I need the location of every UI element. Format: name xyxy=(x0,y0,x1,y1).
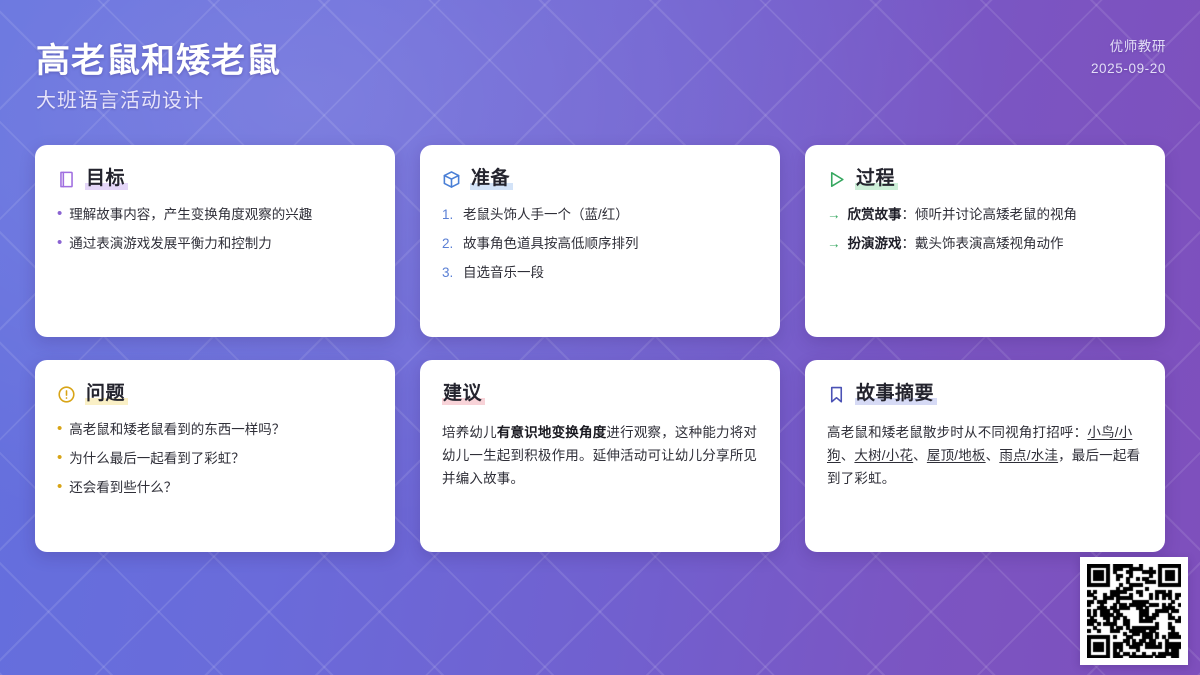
card-process-title: 过程 xyxy=(855,167,898,192)
list-item: 3. 自选音乐一段 xyxy=(442,264,758,281)
list-item-text: 老鼠头饰人手一个（蓝/红） xyxy=(463,206,629,223)
advice-text-bold: 有意识地变换角度 xyxy=(497,425,607,440)
list-item-body: 扮演游戏：戴头饰表演高矮视角动作 xyxy=(848,235,1064,252)
box-icon xyxy=(442,170,461,189)
bullet-dot-icon: • xyxy=(57,235,62,251)
bullet-dot-icon: • xyxy=(57,421,62,437)
list-item: • 高老鼠和矮老鼠看到的东西一样吗？ xyxy=(57,421,373,438)
list-number: 3. xyxy=(442,264,456,281)
arrow-right-icon: → xyxy=(827,235,841,252)
card-summary-header: 故事摘要 xyxy=(827,382,1143,407)
list-item-text: 故事角色道具按高低顺序排列 xyxy=(463,235,639,252)
summary-separator: 、 xyxy=(913,448,927,463)
list-item: • 为什么最后一起看到了彩虹？ xyxy=(57,450,373,467)
play-triangle-icon xyxy=(827,170,846,189)
list-item-separator: ： xyxy=(902,236,916,251)
bullet-dot-icon: • xyxy=(57,450,62,466)
process-list: → 欣赏故事：倾听并讨论高矮老鼠的视角 → 扮演游戏：戴头饰表演高矮视角动作 xyxy=(827,206,1143,252)
list-item-text: 倾听并讨论高矮老鼠的视角 xyxy=(915,207,1077,222)
summary-separator: 、 xyxy=(841,448,855,463)
goal-list: • 理解故事内容，产生变换角度观察的兴趣 • 通过表演游戏发展平衡力和控制力 xyxy=(57,206,373,252)
card-prepare-header: 准备 xyxy=(442,167,758,192)
list-number: 1. xyxy=(442,206,456,223)
card-process[interactable]: 过程 → 欣赏故事：倾听并讨论高矮老鼠的视角 → 扮演游戏：戴头饰表演高矮视角动… xyxy=(805,145,1165,337)
list-item-text: 自选音乐一段 xyxy=(463,264,544,281)
questions-list: • 高老鼠和矮老鼠看到的东西一样吗？ • 为什么最后一起看到了彩虹？ • 还会看… xyxy=(57,421,373,496)
summary-text-before: 高老鼠和矮老鼠散步时从不同视角打招呼： xyxy=(827,425,1087,440)
list-item: → 扮演游戏：戴头饰表演高矮视角动作 xyxy=(827,235,1143,252)
header-meta: 优师教研 2025-09-20 xyxy=(1091,36,1166,80)
page-subtitle: 大班语言活动设计 xyxy=(36,84,204,113)
card-prepare-title: 准备 xyxy=(470,167,513,192)
card-grid: 目标 • 理解故事内容，产生变换角度观察的兴趣 • 通过表演游戏发展平衡力和控制… xyxy=(35,145,1165,552)
card-prepare[interactable]: 准备 1. 老鼠头饰人手一个（蓝/红） 2. 故事角色道具按高低顺序排列 3. … xyxy=(420,145,780,337)
summary-link[interactable]: 大树/小花 xyxy=(854,448,913,463)
card-goal-title: 目标 xyxy=(85,167,128,192)
card-advice-title: 建议 xyxy=(442,382,485,407)
list-item-text: 还会看到些什么？ xyxy=(69,479,177,496)
card-goal[interactable]: 目标 • 理解故事内容，产生变换角度观察的兴趣 • 通过表演游戏发展平衡力和控制… xyxy=(35,145,395,337)
bookmark-icon xyxy=(827,385,846,404)
list-item-text: 戴头饰表演高矮视角动作 xyxy=(915,236,1064,251)
list-item: 2. 故事角色道具按高低顺序排列 xyxy=(442,235,758,252)
page-title: 高老鼠和矮老鼠 xyxy=(36,33,281,82)
list-item-text: 为什么最后一起看到了彩虹？ xyxy=(69,450,245,467)
card-goal-header: 目标 xyxy=(57,167,373,192)
date-label: 2025-09-20 xyxy=(1091,58,1166,80)
qr-code-panel[interactable] xyxy=(1080,557,1188,665)
card-summary[interactable]: 故事摘要 高老鼠和矮老鼠散步时从不同视角打招呼：小鸟/小狗、大树/小花、屋顶/地… xyxy=(805,360,1165,552)
list-item-text: 通过表演游戏发展平衡力和控制力 xyxy=(69,235,272,252)
summary-link[interactable]: 雨点/水洼 xyxy=(999,448,1058,463)
bullet-dot-icon: • xyxy=(57,206,62,222)
brand-label: 优师教研 xyxy=(1091,36,1166,58)
list-item-text: 高老鼠和矮老鼠看到的东西一样吗？ xyxy=(69,421,285,438)
exclamation-circle-icon xyxy=(57,385,76,404)
qr-code[interactable] xyxy=(1087,564,1181,658)
advice-paragraph: 培养幼儿有意识地变换角度进行观察，这种能力将对幼儿一生起到积极作用。延伸活动可让… xyxy=(442,421,758,490)
list-item-text: 理解故事内容，产生变换角度观察的兴趣 xyxy=(69,206,312,223)
list-item-body: 欣赏故事：倾听并讨论高矮老鼠的视角 xyxy=(848,206,1078,223)
list-item-lead: 扮演游戏 xyxy=(848,236,902,251)
prepare-list: 1. 老鼠头饰人手一个（蓝/红） 2. 故事角色道具按高低顺序排列 3. 自选音… xyxy=(442,206,758,281)
list-item: → 欣赏故事：倾听并讨论高矮老鼠的视角 xyxy=(827,206,1143,223)
list-item: 1. 老鼠头饰人手一个（蓝/红） xyxy=(442,206,758,223)
list-item: • 通过表演游戏发展平衡力和控制力 xyxy=(57,235,373,252)
book-icon xyxy=(57,170,76,189)
arrow-right-icon: → xyxy=(827,206,841,223)
list-item: • 理解故事内容，产生变换角度观察的兴趣 xyxy=(57,206,373,223)
advice-text-before: 培养幼儿 xyxy=(442,425,497,440)
list-item-separator: ： xyxy=(902,207,916,222)
summary-link[interactable]: 屋顶/地板 xyxy=(927,448,986,463)
card-questions-title: 问题 xyxy=(85,382,128,407)
list-number: 2. xyxy=(442,235,456,252)
slide-header: 高老鼠和矮老鼠 大班语言活动设计 优师教研 2025-09-20 xyxy=(0,0,1200,140)
summary-paragraph: 高老鼠和矮老鼠散步时从不同视角打招呼：小鸟/小狗、大树/小花、屋顶/地板、雨点/… xyxy=(827,421,1143,490)
card-advice-header: 建议 xyxy=(442,382,758,407)
list-item-lead: 欣赏故事 xyxy=(848,207,902,222)
bullet-dot-icon: • xyxy=(57,479,62,495)
card-process-header: 过程 xyxy=(827,167,1143,192)
card-questions[interactable]: 问题 • 高老鼠和矮老鼠看到的东西一样吗？ • 为什么最后一起看到了彩虹？ • … xyxy=(35,360,395,552)
card-questions-header: 问题 xyxy=(57,382,373,407)
list-item: • 还会看到些什么？ xyxy=(57,479,373,496)
summary-separator: 、 xyxy=(986,448,1000,463)
card-advice[interactable]: 建议 培养幼儿有意识地变换角度进行观察，这种能力将对幼儿一生起到积极作用。延伸活… xyxy=(420,360,780,552)
slide-canvas: 高老鼠和矮老鼠 大班语言活动设计 优师教研 2025-09-20 目标 • 理解… xyxy=(0,0,1200,675)
card-summary-title: 故事摘要 xyxy=(855,382,937,407)
